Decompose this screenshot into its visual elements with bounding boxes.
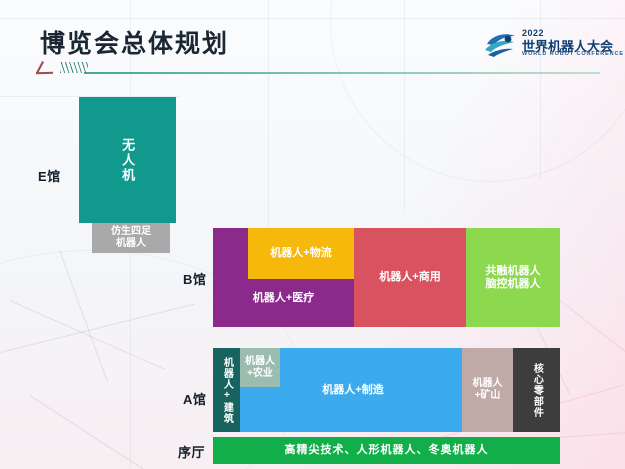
wrc-wave-logo-icon: [484, 31, 518, 58]
block-drone-label: 无人机: [120, 138, 135, 183]
hall-label-e: E馆: [38, 166, 61, 185]
block-robot-mining[interactable]: 机器人 +矿山: [462, 348, 513, 432]
block-robot-fusion-brain[interactable]: 共融机器人 脑控机器人: [466, 228, 560, 327]
block-lobby-topics[interactable]: 高精尖技术、人形机器人、冬奥机器人: [213, 437, 560, 464]
block-robot-commercial-label: 机器人+商用: [379, 271, 440, 284]
block-robot-manufacturing[interactable]: 机器人+制造: [280, 348, 462, 432]
hall-label-a: A馆: [183, 389, 206, 408]
block-robot-agriculture[interactable]: 机器人 +农业: [240, 348, 280, 387]
block-robot-logistics[interactable]: 机器人+物流: [248, 228, 354, 279]
hall-label-lobby: 序厅: [178, 442, 205, 461]
title-underline: [84, 72, 600, 74]
title-underline-tick-icon: [36, 60, 58, 74]
title-underline-hatch-icon: [60, 62, 88, 73]
block-robot-commercial[interactable]: 机器人+商用: [354, 228, 466, 327]
hall-label-b: B馆: [183, 269, 206, 288]
block-robot-construction-label: 机器人+建筑: [221, 357, 233, 424]
block-robot-medical-label: 机器人+医疗: [253, 292, 314, 305]
logo-english-name: WORLD ROBOT CONFERENCE: [522, 51, 624, 57]
block-core-components-label: 核心零部件: [531, 363, 543, 418]
block-robot-fusion-brain-label: 共融机器人 脑控机器人: [486, 265, 541, 291]
block-robot-construction[interactable]: 机器人+建筑: [213, 348, 240, 432]
block-quadruped-robot[interactable]: 仿生四足 机器人: [92, 223, 170, 253]
block-robot-logistics-label: 机器人+物流: [270, 247, 331, 260]
block-robot-agriculture-label: 机器人 +农业: [245, 356, 275, 380]
block-quadruped-robot-label: 仿生四足 机器人: [111, 226, 151, 250]
block-core-components[interactable]: 核心零部件: [513, 348, 560, 432]
block-lobby-topics-label: 高精尖技术、人形机器人、冬奥机器人: [285, 444, 489, 457]
conference-logo: 2022 世界机器人大会 WORLD ROBOT CONFERENCE: [484, 29, 606, 61]
page-title: 博览会总体规划: [40, 24, 229, 60]
slide-canvas: 博览会总体规划 2022 世界机器人大会 WORLD ROBOT CONFERE…: [0, 0, 625, 469]
block-robot-mining-label: 机器人 +矿山: [473, 378, 503, 402]
block-drone[interactable]: 无人机: [79, 97, 176, 223]
block-robot-manufacturing-label: 机器人+制造: [322, 384, 383, 397]
